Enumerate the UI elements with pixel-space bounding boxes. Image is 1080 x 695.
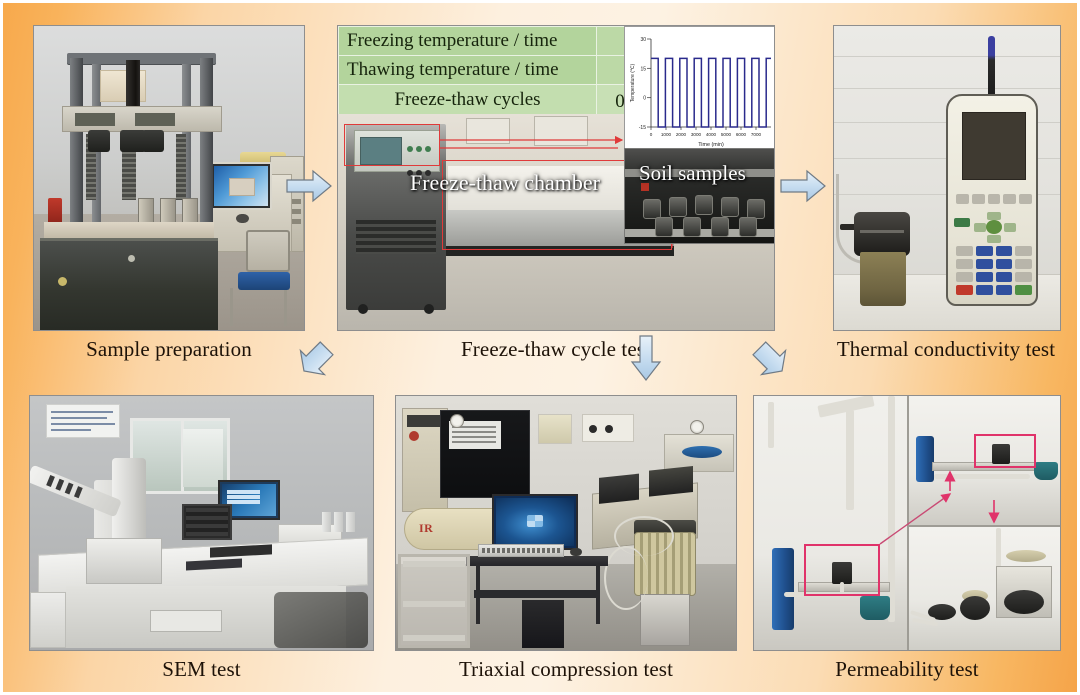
svg-text:15: 15 (640, 66, 646, 72)
bench-drawer (150, 610, 222, 632)
actuator-left (88, 130, 110, 152)
soil-sample-jar (643, 199, 661, 219)
loading-ram (126, 60, 140, 108)
svg-text:5000: 5000 (721, 132, 732, 137)
caption-sample-preparation: Sample preparation (33, 337, 305, 362)
panel-sample-preparation (33, 25, 305, 331)
caption-freeze-thaw-cycle-test: Freeze-thaw cycle test (337, 337, 775, 362)
soil-sample-jar (721, 197, 739, 217)
frame-crossbeam (62, 106, 222, 132)
cables-and-chairs (274, 592, 368, 648)
figure-canvas: Sample preparation Freezing temperature … (0, 0, 1080, 695)
pressure-gauge (690, 420, 704, 434)
actuator-right (142, 130, 164, 152)
chart-svg: -15 0 15 30 0 100 (625, 27, 775, 149)
svg-text:1000: 1000 (661, 132, 672, 137)
svg-text:7000: 7000 (751, 132, 762, 137)
triaxial-cell-base (640, 594, 690, 646)
svg-text:0: 0 (650, 132, 653, 137)
load-block-right (649, 466, 693, 497)
panel-freeze-thaw-cycle-test: Freezing temperature / time -15℃ / 8h Th… (337, 25, 775, 331)
svg-text:-15: -15 (639, 125, 646, 131)
label-freeze-thaw-chamber: Freeze-thaw chamber (410, 170, 600, 196)
arrow-to-sem (295, 337, 337, 381)
meter-logo (954, 218, 970, 227)
panel-permeability-test (753, 395, 1061, 651)
row-label: Freeze-thaw cycles (339, 85, 597, 115)
machine-cabinet (40, 238, 218, 331)
caption-permeability-test: Permeability test (753, 657, 1061, 682)
mouse (570, 548, 582, 556)
computer-tower (522, 600, 564, 648)
panel-sem-test (29, 395, 374, 651)
soil-sample-jar (695, 195, 713, 215)
wall-socket (582, 414, 634, 442)
label-soil-samples: Soil samples (639, 161, 746, 186)
soil-sample-jar (747, 199, 765, 219)
panel-triaxial-compression-test: IR (395, 395, 737, 651)
meter-keypad[interactable] (956, 246, 1032, 295)
caption-triaxial-compression-test: Triaxial compression test (395, 657, 737, 682)
reagent-bottle (334, 512, 343, 532)
arrow-to-triaxial (629, 334, 663, 382)
control-monitor (210, 162, 272, 210)
arrow-to-freeze-thaw (285, 168, 333, 204)
wall-box (538, 414, 572, 444)
caption-thermal-conductivity-test: Thermal conductivity test (815, 337, 1077, 362)
thermal-probe-head (854, 212, 910, 256)
blue-ring-fixture (682, 446, 722, 458)
loading-frame-crown (67, 53, 216, 64)
meter-function-keys[interactable] (956, 194, 1032, 204)
svg-text:Temperature (℃): Temperature (℃) (630, 63, 636, 102)
sem-specimen-chamber (86, 538, 162, 584)
soil-specimen-cup (860, 252, 906, 306)
row-label: Freezing temperature / time (339, 27, 597, 56)
reagent-bottle (322, 512, 331, 532)
arrow-to-thermal-conductivity (779, 168, 827, 204)
keyboard (478, 544, 564, 557)
svg-text:0: 0 (643, 96, 646, 102)
svg-text:3000: 3000 (691, 132, 702, 137)
compressor-gauge (450, 414, 464, 428)
row-label: Thawing temperature / time (339, 56, 597, 85)
antenna-probe (988, 36, 995, 96)
meter-dpad[interactable] (974, 212, 1016, 242)
caption-sem-test: SEM test (29, 657, 374, 682)
soil-samples-inset: Soil samples (624, 148, 775, 244)
permeability-annotation-arrows (754, 396, 1061, 651)
load-block-left (599, 474, 639, 504)
panel-thermal-conductivity-test (833, 25, 1061, 331)
soil-sample-jar (655, 217, 673, 237)
svg-text:30: 30 (640, 37, 646, 43)
temperature-cycle-chart: -15 0 15 30 0 100 (624, 26, 775, 148)
wall-notice (46, 404, 120, 438)
soil-sample-jar (683, 217, 701, 237)
sem-monitor-secondary (182, 504, 232, 540)
svg-text:6000: 6000 (736, 132, 747, 137)
side-table (30, 592, 66, 648)
thermal-conductivity-meter[interactable] (946, 94, 1038, 306)
soil-sample-jar (711, 217, 729, 237)
soil-sample-jar (669, 197, 687, 217)
soil-sample-jar (739, 217, 757, 237)
reagent-bottle (346, 512, 355, 532)
lead-screw-right (176, 134, 186, 200)
computer-desk-top (466, 556, 608, 566)
utility-cart (398, 554, 470, 648)
svg-text:4000: 4000 (706, 132, 717, 137)
hydraulic-tubing (614, 516, 674, 556)
meter-screen (962, 112, 1026, 180)
svg-text:2000: 2000 (676, 132, 687, 137)
workstation-monitor (492, 494, 578, 550)
lab-chair (230, 230, 292, 326)
wall-blind-line (834, 56, 1060, 57)
arrow-to-permeability (749, 337, 791, 381)
mouse (236, 214, 249, 223)
desk-lower-shelf (474, 590, 600, 598)
wall-blind-line (834, 88, 1060, 89)
red-bottle (48, 198, 62, 224)
